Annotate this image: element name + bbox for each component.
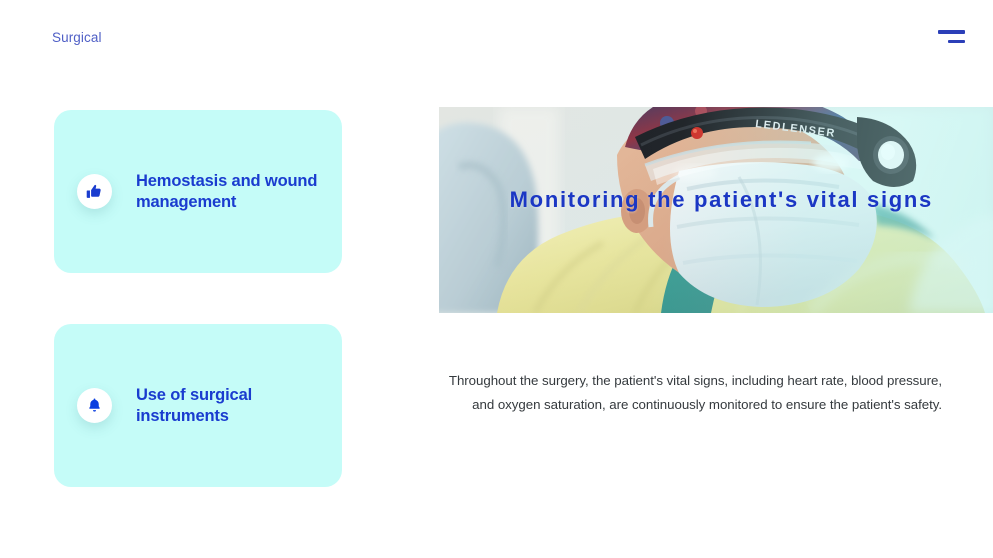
menu-bar-top	[938, 30, 965, 34]
bell-icon	[77, 388, 112, 423]
content-column: LEDLENSER Monitoring the patient's vital…	[439, 107, 993, 416]
hamburger-menu-icon[interactable]	[933, 30, 965, 50]
feature-card-title: Use of surgical instruments	[136, 385, 326, 427]
hero-heading: Monitoring the patient's vital signs	[503, 185, 933, 214]
hero-banner: LEDLENSER Monitoring the patient's vital…	[439, 107, 993, 313]
brand-logo[interactable]: Surgical	[52, 31, 102, 45]
feature-card-title: Hemostasis and wound management	[136, 171, 326, 213]
menu-bar-bottom	[948, 40, 965, 44]
feature-card-hemostasis[interactable]: Hemostasis and wound management	[54, 110, 342, 273]
thumbs-up-icon	[77, 174, 112, 209]
site-header: Surgical	[0, 0, 993, 78]
feature-card-instruments[interactable]: Use of surgical instruments	[54, 324, 342, 487]
feature-card-list: Hemostasis and wound management Use of s…	[54, 110, 342, 538]
body-paragraph: Throughout the surgery, the patient's vi…	[439, 369, 993, 416]
